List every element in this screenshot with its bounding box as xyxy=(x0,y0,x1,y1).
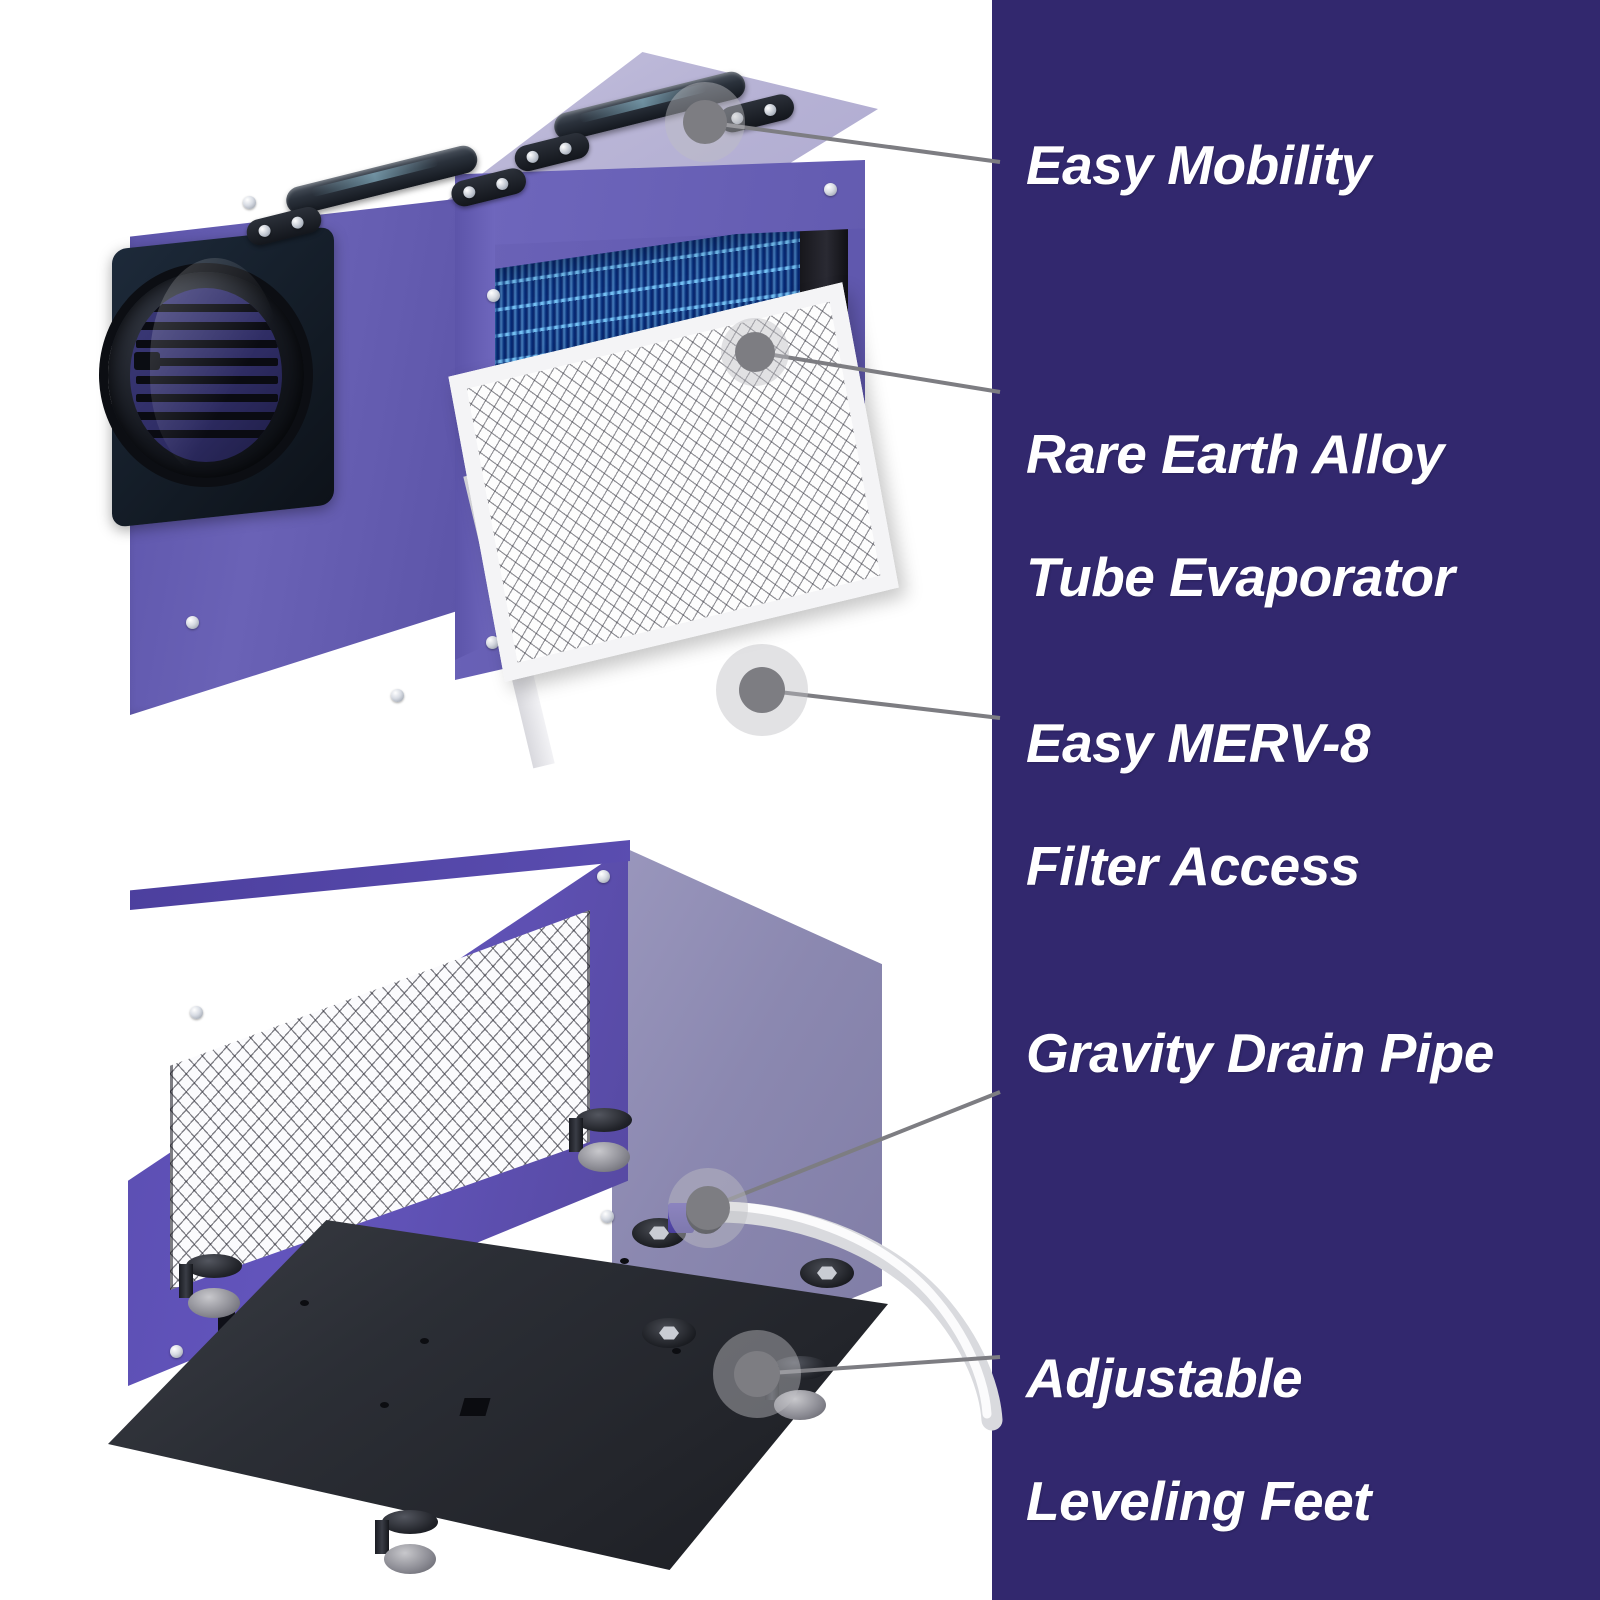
callout-line: Easy MERV-8 xyxy=(1026,712,1370,774)
louver-slats xyxy=(130,288,282,462)
body-screw xyxy=(186,616,199,629)
infographic-canvas: Easy Mobility Rare Earth Alloy Tube Evap… xyxy=(0,0,1600,1600)
product-image-bottom xyxy=(0,820,992,1600)
plate-slot xyxy=(459,1398,490,1416)
callout-line: Filter Access xyxy=(1026,835,1360,897)
callout-dot-easy-mobility xyxy=(683,100,727,144)
frame-screw xyxy=(601,1210,614,1223)
plate-hole xyxy=(300,1300,309,1306)
frame-screw xyxy=(597,870,610,883)
plate-hole xyxy=(380,1402,389,1408)
duct-latch-tab xyxy=(134,352,160,370)
callout-dot-easy-merv-8-filter-access xyxy=(739,667,785,713)
body-screw xyxy=(391,689,404,702)
hex-mount xyxy=(642,1318,696,1348)
callout-label-rare-earth-alloy-tube-evaporator: Rare Earth Alloy Tube Evaporator xyxy=(1026,362,1455,608)
body-screw xyxy=(243,196,256,209)
callout-label-easy-mobility: Easy Mobility xyxy=(1026,135,1371,197)
plate-hole xyxy=(672,1348,681,1354)
callout-dot-gravity-drain-pipe xyxy=(686,1186,730,1230)
callout-line: Tube Evaporator xyxy=(1026,546,1455,608)
callout-dot-rare-earth-alloy-tube-evaporator xyxy=(735,332,775,372)
callout-line: Rare Earth Alloy xyxy=(1026,423,1444,485)
body-screw xyxy=(824,183,837,196)
hex-mount xyxy=(800,1258,854,1288)
plate-hole xyxy=(620,1258,629,1264)
body-screw xyxy=(487,289,500,302)
callout-line: Leveling Feet xyxy=(1026,1470,1371,1532)
callout-dot-adjustable-leveling-feet xyxy=(734,1351,780,1397)
callout-label-gravity-drain-pipe: Gravity Drain Pipe xyxy=(1026,1023,1494,1085)
frame-screw xyxy=(170,1345,183,1358)
product-image-top xyxy=(0,0,992,830)
frame-screw xyxy=(190,1006,203,1019)
plate-hole xyxy=(420,1338,429,1344)
callout-label-adjustable-leveling-feet: Adjustable Leveling Feet xyxy=(1026,1286,1371,1532)
callout-line: Adjustable xyxy=(1026,1347,1302,1409)
callout-label-easy-merv-8-filter-access: Easy MERV-8 Filter Access xyxy=(1026,651,1370,897)
